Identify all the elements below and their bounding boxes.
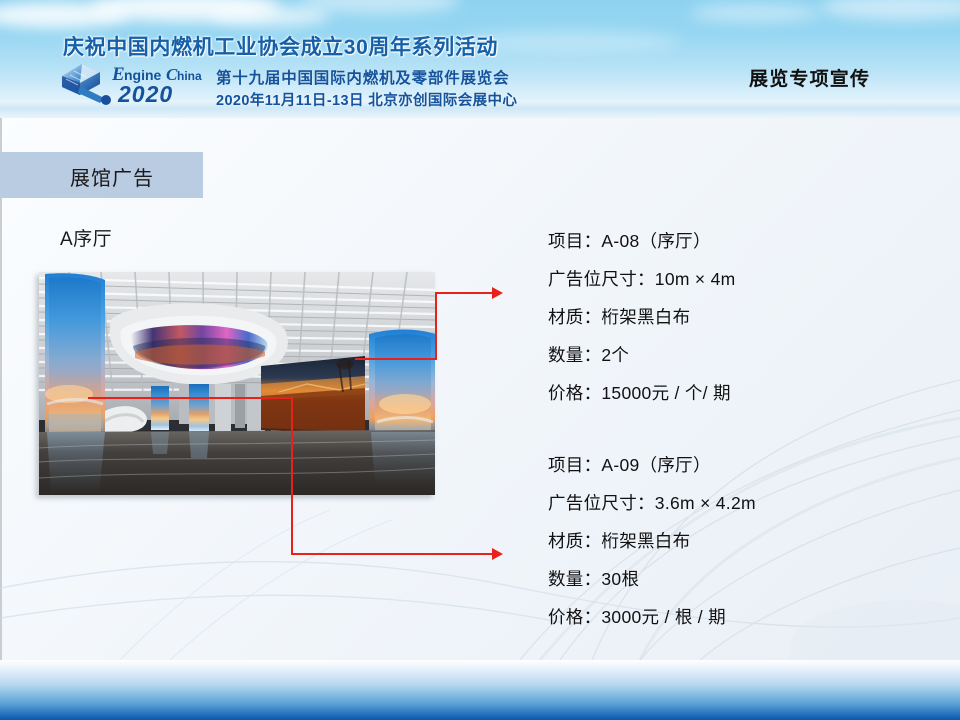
engine-piston-icon [62, 64, 111, 105]
spec-item-material: 材质：桁架黑白布 [548, 298, 736, 336]
svg-text:2020: 2020 [117, 81, 173, 106]
spec-item-price: 价格：15000元 / 个/ 期 [548, 374, 736, 412]
hall-label: A序厅 [60, 224, 112, 251]
spec-item-price: 价格：3000元 / 根 / 期 [548, 598, 756, 636]
spec-item-quantity: 数量：30根 [548, 560, 756, 598]
header-main-title: 庆祝中国内燃机工业协会成立30周年系列活动 [63, 31, 498, 61]
page-footer [0, 660, 960, 720]
expo-date-venue: 2020年11月11日-13日 北京亦创国际会展中心 [216, 89, 517, 110]
section-title: 展馆广告 [70, 162, 154, 191]
spec-item-project: 项目：A-09（序厅） [548, 446, 756, 484]
engine-china-logo: E ngine C hina 2020 [60, 62, 212, 106]
cloud-decoration [690, 4, 820, 22]
wall-banner-a08 [261, 356, 365, 434]
spec-item-material: 材质：桁架黑白布 [548, 522, 756, 560]
spec-item-project: 项目：A-08（序厅） [548, 222, 736, 260]
cloud-decoration [210, 6, 330, 26]
spec-item-size: 广告位尺寸：3.6m × 4.2m [548, 484, 756, 522]
svg-text:hina: hina [177, 69, 202, 83]
expo-name: 第十九届中国国际内燃机及零部件展览会 [216, 66, 509, 88]
slide-canvas: 庆祝中国内燃机工业协会成立30周年系列活动 E ngine [0, 0, 960, 720]
ad-spec-block-a08: 项目：A-08（序厅） 广告位尺寸：10m × 4m 材质：桁架黑白布 数量：2… [548, 222, 736, 412]
cloud-decoration [820, 0, 960, 20]
ad-spec-block-a09: 项目：A-09（序厅） 广告位尺寸：3.6m × 4.2m 材质：桁架黑白布 数… [548, 446, 756, 636]
page-header: 庆祝中国内燃机工业协会成立30周年系列活动 E ngine [0, 0, 960, 118]
spec-item-size: 广告位尺寸：10m × 4m [548, 260, 736, 298]
spec-item-quantity: 数量：2个 [548, 336, 736, 374]
header-right-tag: 展览专项宣传 [749, 64, 870, 91]
hall-rendering-photo [39, 272, 435, 495]
